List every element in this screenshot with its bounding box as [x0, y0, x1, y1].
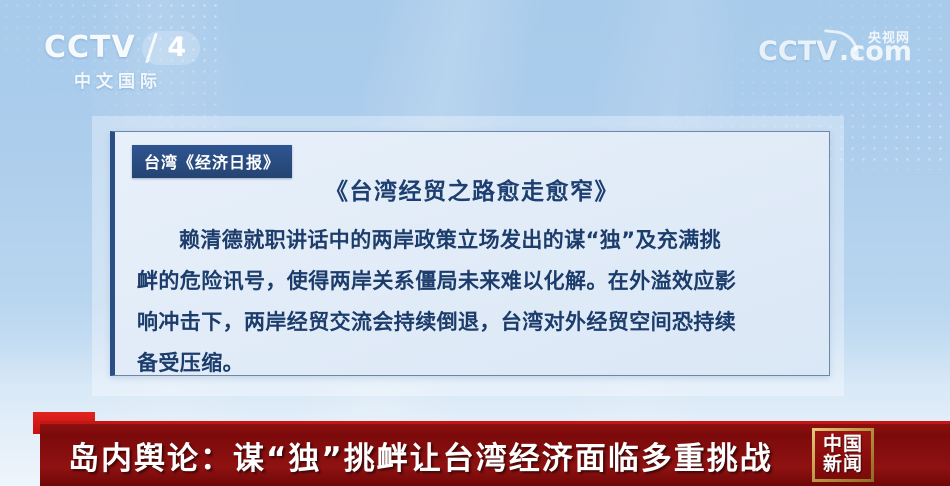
broadcast-screen: CCTV 4 中文国际 央视网 CCTV .com 台湾《经济日报》 《台湾经贸…	[0, 0, 950, 486]
article-body-line: 响冲击下，两岸经贸交流会持续倒退，台湾对外经贸空间恐持续	[137, 302, 811, 343]
source-badge: 台湾《经济日报》	[132, 145, 292, 178]
channel-logo: CCTV 4 中文国际	[44, 30, 244, 92]
article-body: 赖清德就职讲话中的两岸政策立场发出的谋“独”及充满挑 衅的危险讯号，使得两岸关系…	[115, 206, 829, 384]
article-body-line: 备受压缩。	[137, 343, 811, 384]
newspaper-quote-card: 台湾《经济日报》 《台湾经贸之路愈走愈窄》 赖清德就职讲话中的两岸政策立场发出的…	[110, 131, 830, 376]
news-headline-text: 岛内舆论：谋“独”挑衅让台湾经济面临多重挑战	[40, 433, 773, 478]
article-body-line: 衅的危险讯号，使得两岸关系僵局未来难以化解。在外溢效应影	[137, 261, 811, 302]
program-logo: 中国 新闻	[812, 428, 874, 482]
program-logo-line-1: 中国	[823, 435, 863, 455]
program-logo-inner: 中国 新闻	[815, 431, 871, 479]
channel-subtitle: 中文国际	[74, 67, 244, 92]
cctv-wordmark: CCTV	[44, 30, 136, 65]
article-body-line: 赖清德就职讲话中的两岸政策立场发出的谋“独”及充满挑	[137, 220, 811, 261]
channel-number-badge: 4	[142, 31, 200, 65]
cctv4-logo-row: CCTV 4	[44, 30, 244, 65]
program-logo-line-2: 新闻	[823, 455, 863, 475]
globe-arc-icon	[822, 29, 861, 58]
yangshiwang-label: 央视网	[868, 27, 910, 46]
cctv-com-watermark: 央视网 CCTV .com	[758, 36, 912, 67]
channel-number: 4	[155, 32, 186, 63]
